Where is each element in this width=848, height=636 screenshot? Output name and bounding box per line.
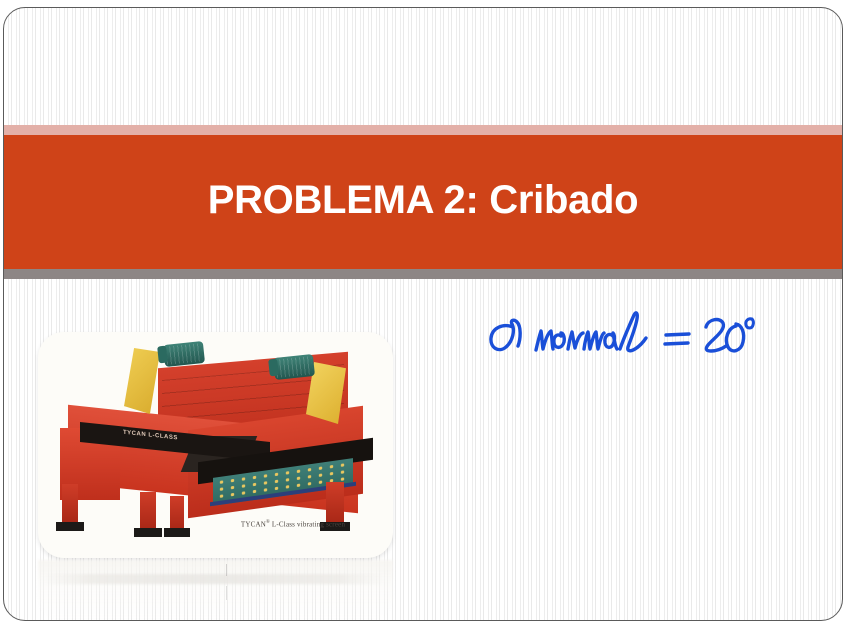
machine-mount-pad: [56, 522, 84, 531]
machine-motor-left-cap: [157, 346, 168, 364]
machine-leg: [62, 484, 78, 524]
title-band-accent-gray: [4, 269, 842, 279]
machine-leg: [170, 496, 184, 530]
handwriting-ink-svg: [480, 306, 760, 372]
slide-title: PROBLEMA 2: Cribado: [4, 176, 842, 224]
handwritten-annotation: [480, 306, 760, 372]
presentation-slide: PROBLEMA 2: Cribado TYCAN L-CLASS: [3, 7, 843, 621]
photo-caption: TYCAN® L-Class vibrating screen: [198, 520, 388, 528]
machine-motor-left-fins: [165, 343, 203, 365]
machine-leg: [140, 492, 156, 530]
reflection-tick-mark: [226, 564, 227, 576]
photo-card: TYCAN L-CLASS TYCAN® L-Class vibrating s…: [38, 332, 393, 558]
vibrating-screen-image: TYCAN L-CLASS TYCAN® L-Class vibrating s…: [38, 332, 393, 558]
machine-support-bracket-left: [124, 348, 160, 414]
photo-caption-rest: L-Class vibrating screen: [270, 520, 345, 528]
machine-mount-pad: [164, 528, 190, 537]
photo-card-reflection-band: [44, 574, 384, 584]
reflection-tick-mark: [226, 586, 227, 600]
machine-motor-right-fins: [275, 356, 313, 378]
machine-motor-right-cap: [268, 359, 279, 377]
machine-mount-pad: [134, 528, 162, 537]
photo-card-reflection: [38, 560, 393, 621]
photo-caption-brand: TYCAN: [241, 520, 266, 528]
machine-leg: [326, 482, 344, 524]
title-band-accent-pink: [4, 125, 842, 135]
